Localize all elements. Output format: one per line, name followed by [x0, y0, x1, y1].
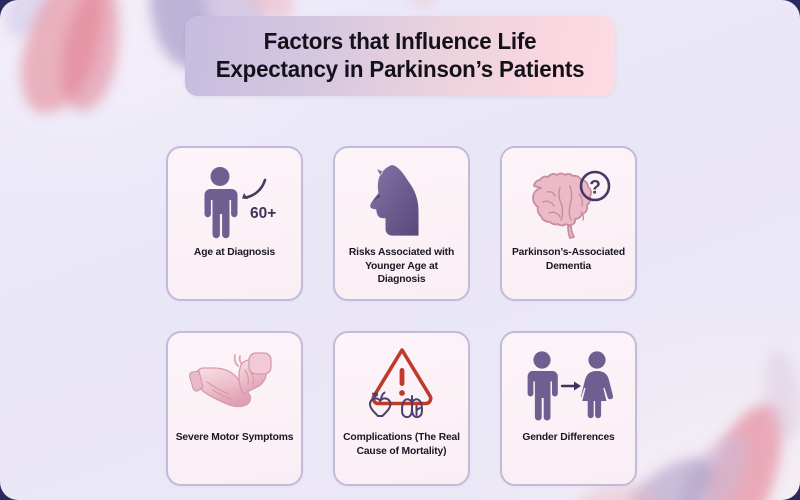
card-parkinsons-dementia[interactable]: ? Parkinson’s-Associated Dementia [500, 146, 637, 301]
card-gender-differences[interactable]: Gender Differences [500, 331, 637, 486]
card-label-line-2: Dementia [546, 261, 591, 272]
male-figure-icon [527, 351, 557, 420]
card-label: Severe Motor Symptoms [169, 431, 301, 445]
arrow-icon [562, 382, 581, 391]
card-label-line-2: Cause of Mortality) [357, 446, 447, 457]
petal-shape [756, 348, 800, 443]
card-label-line-1: Risks Associated with [349, 247, 454, 258]
card-label: Gender Differences [515, 431, 621, 445]
title-line-2: Expectancy in Parkinson’s Patients [216, 56, 585, 82]
card-label: Risks Associated with Younger Age at Dia… [335, 246, 468, 287]
petal-shape [55, 0, 127, 115]
petal-shape [692, 394, 796, 500]
warning-triangle-heart-lungs-icon [335, 341, 468, 433]
petal-shape [668, 423, 760, 500]
person-with-age-arrow-icon: 60+ [168, 156, 301, 248]
petal-shape [0, 0, 67, 45]
card-label: Parkinson’s-Associated Dementia [505, 246, 632, 273]
card-label-line-2: Younger Age at Diagnosis [365, 261, 438, 286]
question-mark-glyph: ? [589, 178, 601, 199]
card-label-line-1: Complications (The Real [343, 432, 460, 443]
brain-question-mark-icon: ? [502, 156, 635, 248]
petal-shape [400, 0, 442, 12]
head-silhouette-icon [335, 156, 468, 248]
card-label: Age at Diagnosis [187, 246, 282, 260]
flexed-arm-muscle-icon [168, 341, 301, 433]
title-line-1: Factors that Influence Life [264, 28, 537, 54]
page-title: Factors that Influence Life Expectancy i… [206, 28, 594, 83]
age-badge-text: 60+ [250, 205, 276, 222]
card-risks-younger-age[interactable]: Risks Associated with Younger Age at Dia… [333, 146, 470, 301]
card-label: Complications (The Real Cause of Mortali… [336, 431, 467, 458]
card-complications-mortality[interactable]: Complications (The Real Cause of Mortali… [333, 331, 470, 486]
female-figure-icon [580, 351, 612, 418]
petal-shape [9, 0, 118, 123]
male-female-arrow-icon [502, 341, 635, 433]
card-label-line-1: Parkinson’s-Associated [512, 247, 625, 258]
infographic-canvas: Factors that Influence Life Expectancy i… [0, 0, 800, 500]
card-age-at-diagnosis[interactable]: 60+ Age at Diagnosis [166, 146, 303, 301]
title-banner: Factors that Influence Life Expectancy i… [185, 16, 615, 96]
factor-card-grid: 60+ Age at Diagnosis [166, 146, 644, 486]
card-severe-motor-symptoms[interactable]: Severe Motor Symptoms [166, 331, 303, 486]
